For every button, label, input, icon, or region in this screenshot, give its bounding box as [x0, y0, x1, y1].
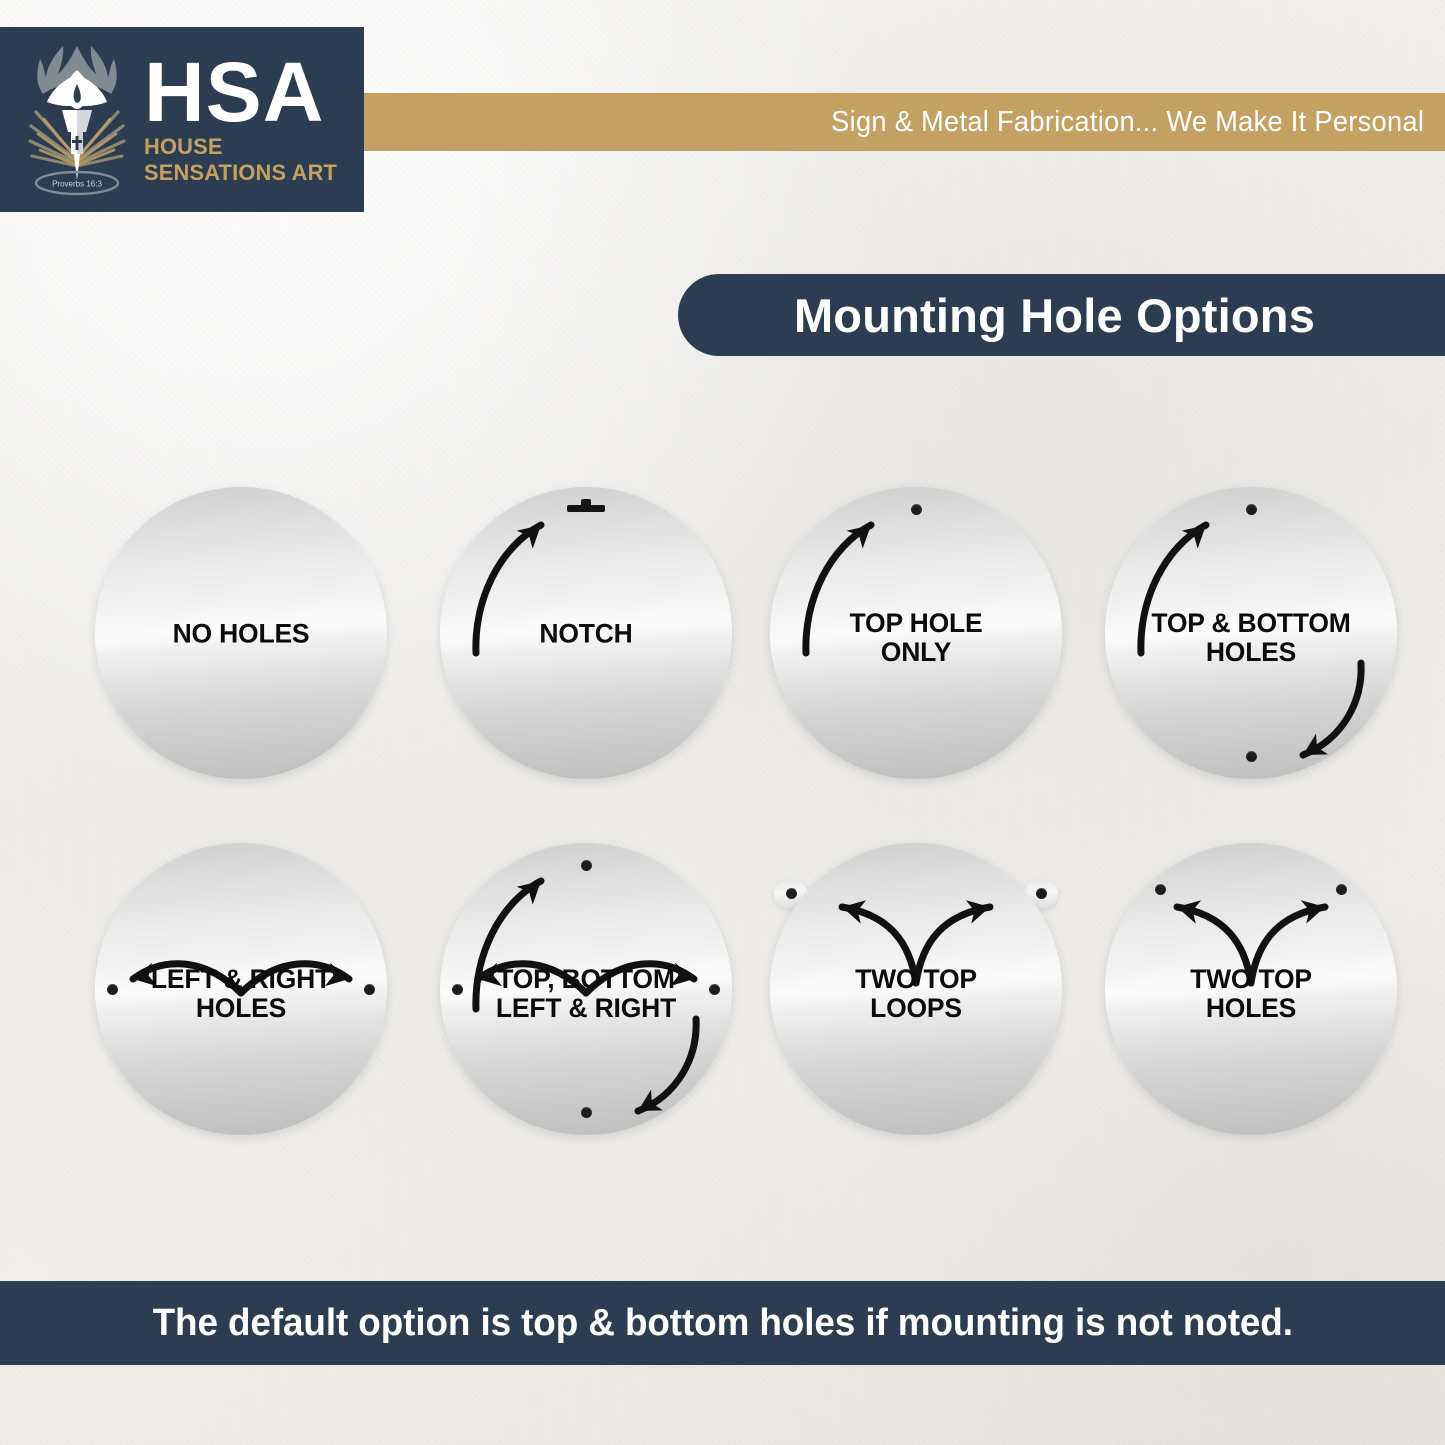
notch-bar: [567, 505, 605, 512]
mounting-hole-bottom: [581, 1107, 592, 1118]
option-label: TOP, BOTTOMLEFT & RIGHT: [440, 965, 732, 1022]
option-label-line: HOLES: [95, 994, 387, 1023]
mounting-option-notch[interactable]: NOTCH: [440, 487, 732, 779]
mounting-option-no-holes[interactable]: NO HOLES: [95, 487, 387, 779]
disc-wrap: NO HOLES: [95, 487, 387, 779]
option-label: TOP & BOTTOMHOLES: [1105, 609, 1397, 666]
option-label: NO HOLES: [95, 619, 387, 648]
mounting-hole-top-left: [1155, 884, 1166, 895]
disc-wrap: TWO TOPLOOPS: [770, 843, 1062, 1135]
option-label-line: TWO TOP: [1105, 965, 1397, 994]
option-label-line: TOP & BOTTOM: [1105, 609, 1397, 638]
mounting-option-two-top-loops[interactable]: TWO TOPLOOPS: [770, 843, 1062, 1135]
disc-wrap: NOTCH: [440, 487, 732, 779]
option-label-line: ONLY: [770, 638, 1062, 667]
option-label: TOP HOLEONLY: [770, 609, 1062, 666]
footer-note-bar: The default option is top & bottom holes…: [0, 1281, 1445, 1365]
mounting-notch: [567, 499, 605, 512]
option-label-line: NOTCH: [440, 619, 732, 648]
loop-hole-top-left: [786, 888, 797, 899]
option-label: NOTCH: [440, 619, 732, 648]
option-label-line: TOP, BOTTOM: [440, 965, 732, 994]
mounting-hole-top: [911, 504, 922, 515]
disc-wrap: TOP HOLEONLY: [770, 487, 1062, 779]
option-label-line: HOLES: [1105, 638, 1397, 667]
footer-note: The default option is top & bottom holes…: [152, 1302, 1292, 1345]
option-label: LEFT & RIGHTHOLES: [95, 965, 387, 1022]
mounting-options-grid: NO HOLESNOTCHTOP HOLEONLYTOP & BOTTOMHOL…: [0, 0, 1445, 1445]
disc-wrap: LEFT & RIGHTHOLES: [95, 843, 387, 1135]
mounting-hole-top: [581, 860, 592, 871]
mounting-option-two-top-holes[interactable]: TWO TOPHOLES: [1105, 843, 1397, 1135]
option-label-line: LOOPS: [770, 994, 1062, 1023]
mounting-hole-top-right: [1336, 884, 1347, 895]
mounting-option-top-hole-only[interactable]: TOP HOLEONLY: [770, 487, 1062, 779]
option-label-line: LEFT & RIGHT: [440, 994, 732, 1023]
mounting-hole-bottom: [1246, 751, 1257, 762]
option-label-line: TWO TOP: [770, 965, 1062, 994]
mounting-option-top-bottom-left-and-right[interactable]: TOP, BOTTOMLEFT & RIGHT: [440, 843, 732, 1135]
option-label-line: NO HOLES: [95, 619, 387, 648]
option-label: TWO TOPHOLES: [1105, 965, 1397, 1022]
mounting-option-top-and-bottom-holes[interactable]: TOP & BOTTOMHOLES: [1105, 487, 1397, 779]
disc-wrap: TOP & BOTTOMHOLES: [1105, 487, 1397, 779]
disc-wrap: TWO TOPHOLES: [1105, 843, 1397, 1135]
option-label: TWO TOPLOOPS: [770, 965, 1062, 1022]
mounting-hole-top: [1246, 504, 1257, 515]
loop-hole-top-right: [1036, 888, 1047, 899]
option-label-line: HOLES: [1105, 994, 1397, 1023]
mounting-option-left-and-right-holes[interactable]: LEFT & RIGHTHOLES: [95, 843, 387, 1135]
disc-wrap: TOP, BOTTOMLEFT & RIGHT: [440, 843, 732, 1135]
option-label-line: TOP HOLE: [770, 609, 1062, 638]
option-label-line: LEFT & RIGHT: [95, 965, 387, 994]
